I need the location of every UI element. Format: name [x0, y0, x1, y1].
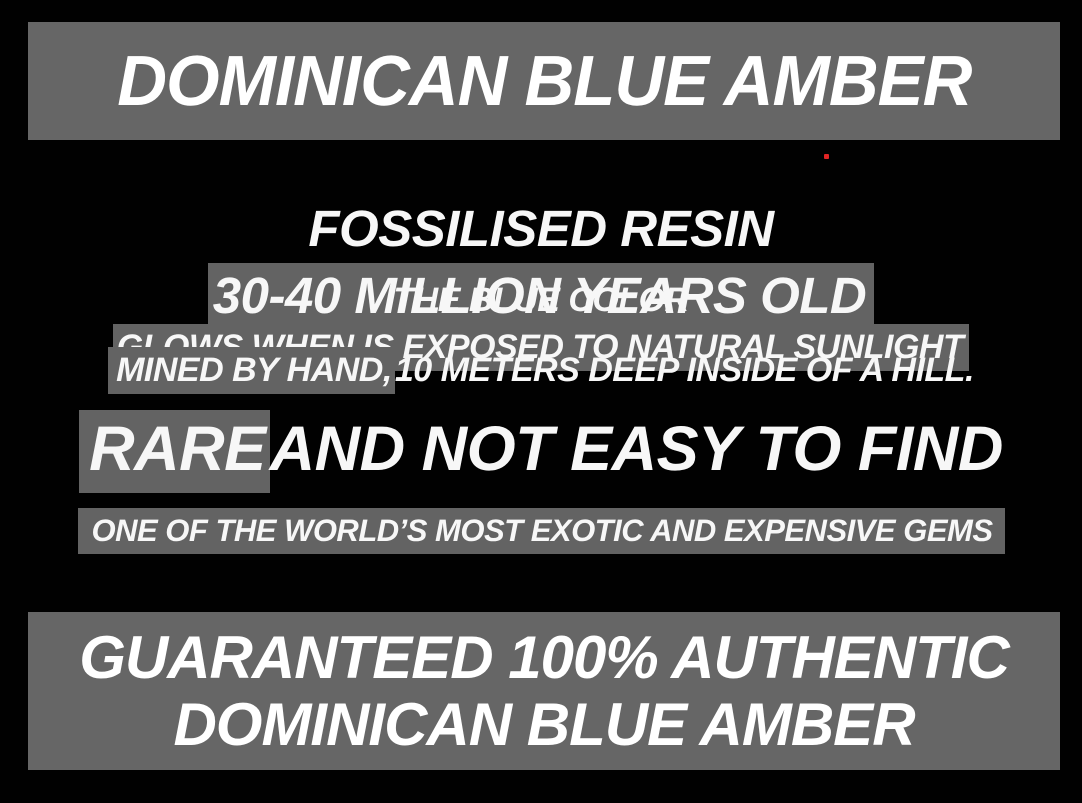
footer-guarantee-line: GUARANTEED 100% AUTHENTIC [79, 624, 1009, 691]
mined-plain-text: 10 METERS DEEP INSIDE OF A HILL. [395, 347, 974, 394]
blue-color-plain-text: THE BLUE COLOR [393, 277, 688, 324]
mined-highlighted-text: MINED BY HAND, [108, 347, 395, 394]
exotic-highlighted-text: ONE OF THE WORLD’S MOST EXOTIC AND EXPEN… [78, 508, 1005, 554]
fact-line-exotic: ONE OF THE WORLD’S MOST EXOTIC AND EXPEN… [0, 508, 1082, 554]
footer-banner: GUARANTEED 100% AUTHENTIC DOMINICAN BLUE… [28, 612, 1060, 770]
footer-product-line: DOMINICAN BLUE AMBER [173, 691, 914, 758]
red-dot-marker [824, 154, 829, 159]
poster-canvas: DOMINICAN BLUE AMBER FOSSILISED RESIN 30… [0, 0, 1082, 803]
fact-line-rare: RARE AND NOT EASY TO FIND [0, 410, 1082, 493]
header-banner: DOMINICAN BLUE AMBER [28, 22, 1060, 140]
page-title: DOMINICAN BLUE AMBER [117, 46, 971, 117]
rare-plain-text: AND NOT EASY TO FIND [270, 410, 1003, 493]
rare-highlighted-text: RARE [79, 410, 270, 493]
fossilised-plain-text: FOSSILISED RESIN [308, 196, 773, 263]
fact-line-mined: MINED BY HAND, 10 METERS DEEP INSIDE OF … [0, 347, 1082, 394]
